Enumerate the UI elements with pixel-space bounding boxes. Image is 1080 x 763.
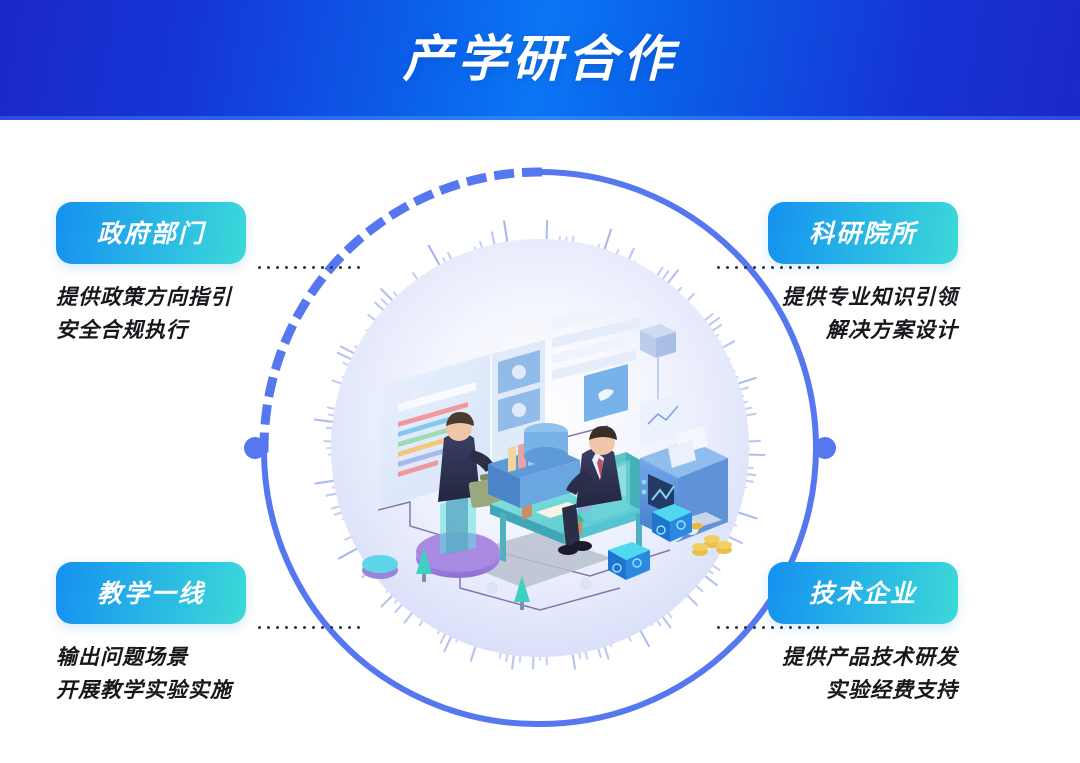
desc-line: 解决方案设计	[768, 315, 958, 348]
seated-businessman	[558, 426, 640, 555]
quadrant-label-tech-enterprise[interactable]: 技术企业	[768, 562, 958, 624]
ring-node-left	[244, 437, 266, 459]
connector-dots-bottom-left	[255, 626, 365, 629]
quadrant-label-research-institute[interactable]: 科研院所	[768, 202, 958, 264]
connector-dots-top-left	[255, 266, 365, 269]
desc-line: 提供产品技术研发	[768, 642, 958, 675]
ring-node-right	[814, 437, 836, 459]
quadrant-label-teaching-frontline[interactable]: 教学一线	[56, 562, 246, 624]
quadrant-tech-enterprise[interactable]: 技术企业 提供产品技术研发 实验经费支持	[768, 562, 958, 707]
quadrant-label-government[interactable]: 政府部门	[56, 202, 246, 264]
quadrant-desc-teaching-frontline: 输出问题场景 开展教学实验实施	[56, 642, 246, 707]
desc-line: 安全合规执行	[56, 315, 246, 348]
infographic-stage: 政府部门 提供政策方向指引 安全合规执行 科研院所 提供专业知识引领 解决方案设…	[0, 120, 1080, 763]
database-cylinder	[524, 423, 568, 465]
desc-line: 开展教学实验实施	[56, 675, 246, 708]
quadrant-desc-government: 提供政策方向指引 安全合规执行	[56, 282, 246, 347]
quadrant-research-institute[interactable]: 科研院所 提供专业知识引领 解决方案设计	[768, 202, 958, 347]
desc-line: 提供政策方向指引	[56, 282, 246, 315]
quadrant-teaching-frontline[interactable]: 教学一线 输出问题场景 开展教学实验实施	[56, 562, 246, 707]
page-title: 产学研合作	[0, 0, 1080, 120]
quadrant-government[interactable]: 政府部门 提供政策方向指引 安全合规执行	[56, 202, 246, 347]
server-machine	[640, 426, 732, 556]
quadrant-desc-research-institute: 提供专业知识引领 解决方案设计	[768, 282, 958, 347]
desc-line: 提供专业知识引领	[768, 282, 958, 315]
header-banner: 产学研合作	[0, 0, 1080, 120]
center-illustration	[340, 258, 740, 638]
quadrant-desc-tech-enterprise: 提供产品技术研发 实验经费支持	[768, 642, 958, 707]
desc-line: 输出问题场景	[56, 642, 246, 675]
desc-line: 实验经费支持	[768, 675, 958, 708]
